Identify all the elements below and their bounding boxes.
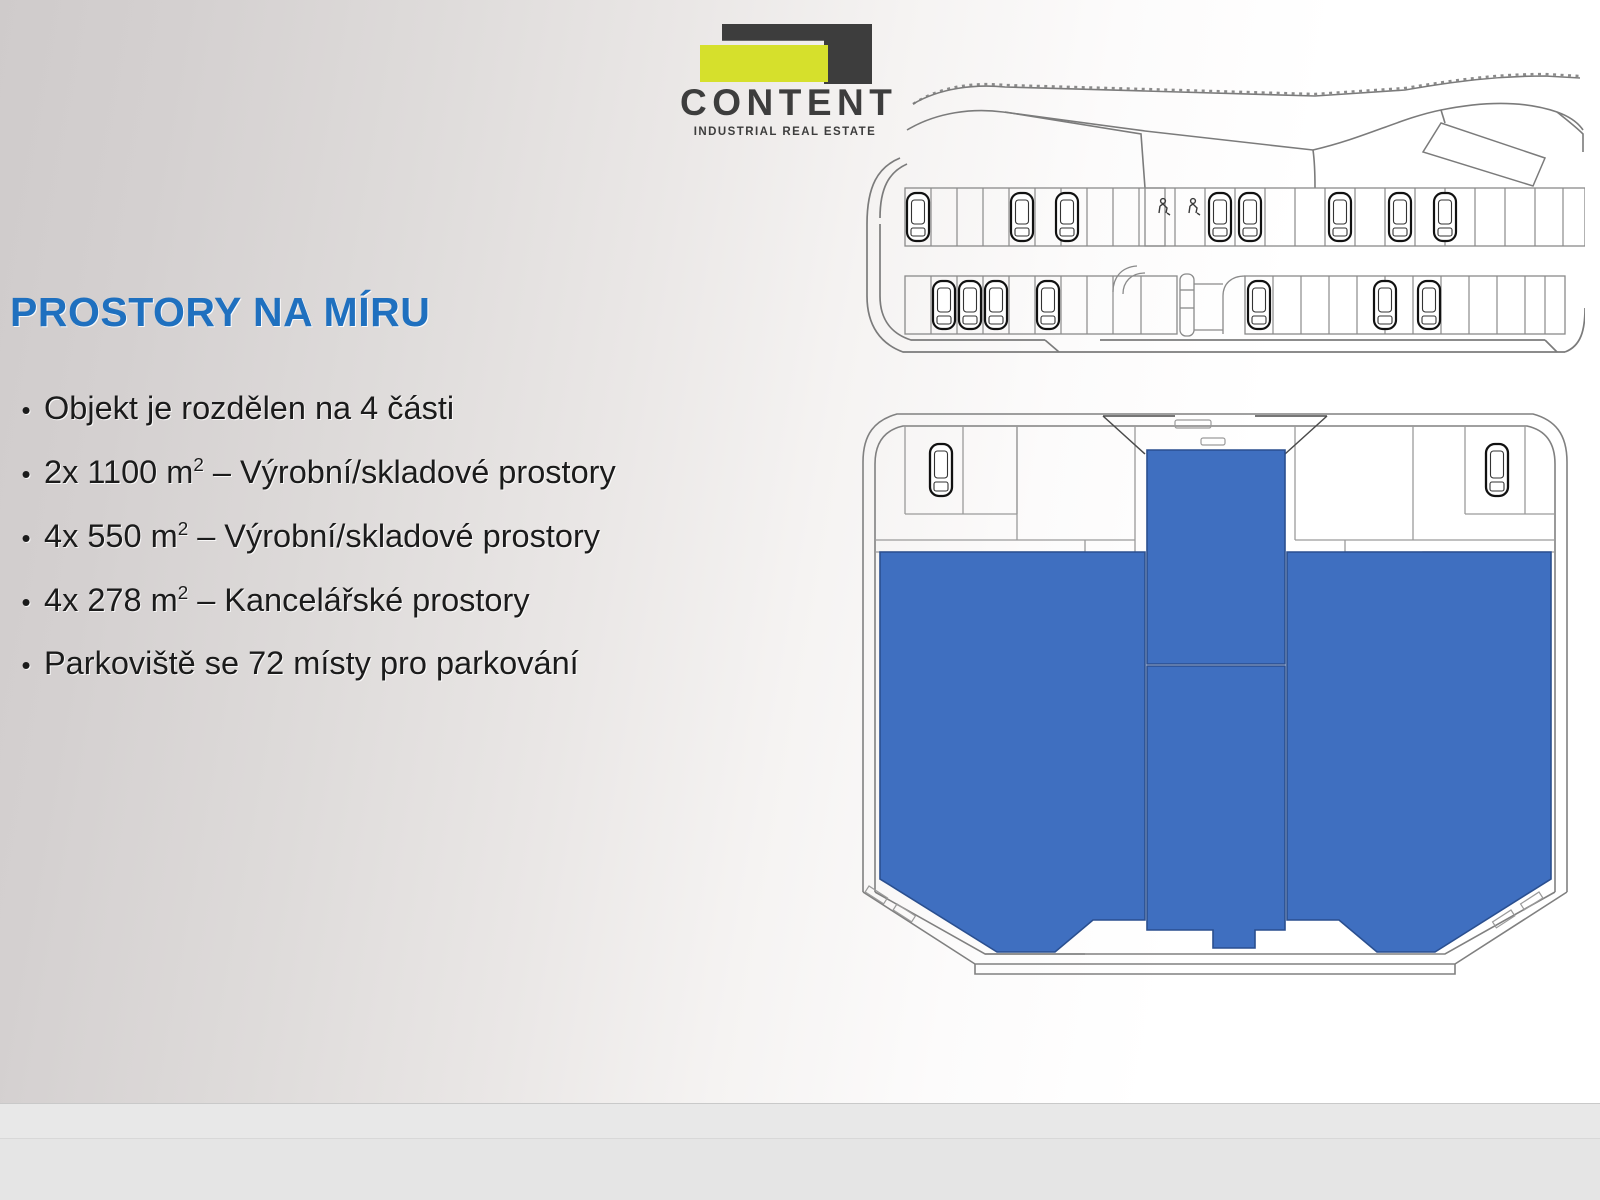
logo-accent-bar-icon — [700, 45, 828, 82]
leasable-units — [880, 450, 1551, 952]
page-title: PROSTORY NA MÍRU — [10, 289, 430, 336]
bullet-marker-icon: • — [8, 397, 44, 423]
list-item-label: Objekt je rozdělen na 4 části — [44, 392, 454, 425]
footer-divider-second — [0, 1138, 1600, 1139]
superscript: 2 — [178, 582, 188, 603]
list-item-label: 2x 1100 m2 – Výrobní/skladové prostory — [44, 455, 616, 489]
slide-canvas: CONTENT INDUSTRIAL REAL ESTATE PROSTORY … — [0, 0, 1600, 1200]
bullet-list: • Objekt je rozdělen na 4 části • 2x 110… — [8, 392, 808, 710]
parking-row-lower — [905, 266, 1565, 336]
parking-level-floorplan — [845, 68, 1585, 368]
footer-divider-top — [0, 1103, 1600, 1104]
units-floorplan-svg — [845, 392, 1585, 992]
list-item: • 2x 1100 m2 – Výrobní/skladové prostory — [8, 455, 808, 489]
bullet-marker-icon: • — [8, 652, 44, 678]
production-office-floorplan — [845, 392, 1585, 992]
footer-lower-band — [0, 1139, 1600, 1200]
list-item-label: 4x 550 m2 – Výrobní/skladové prostory — [44, 519, 600, 553]
parking-row-upper — [905, 188, 1585, 246]
bullet-marker-icon: • — [8, 525, 44, 551]
unit-west[interactable] — [880, 552, 1145, 952]
unit-east[interactable] — [1287, 552, 1551, 952]
unit-center-north[interactable] — [1147, 450, 1285, 664]
bullet-marker-icon: • — [8, 461, 44, 487]
superscript: 2 — [178, 518, 188, 539]
unit-center-south[interactable] — [1147, 666, 1285, 948]
bullet-marker-icon: • — [8, 589, 44, 615]
parking-floorplan-svg — [845, 68, 1585, 368]
parked-car-icon — [907, 193, 1456, 241]
list-item: • Objekt je rozdělen na 4 části — [8, 392, 808, 425]
entry-canopy — [1103, 416, 1327, 454]
superscript: 2 — [193, 454, 203, 475]
list-item-label: 4x 278 m2 – Kancelářské prostory — [44, 583, 530, 617]
canopy-outline — [907, 74, 1583, 188]
list-item: • 4x 550 m2 – Výrobní/skladové prostory — [8, 519, 808, 553]
list-item: • Parkoviště se 72 místy pro parkování — [8, 647, 808, 680]
list-item-label: Parkoviště se 72 místy pro parkování — [44, 647, 579, 680]
list-item: • 4x 278 m2 – Kancelářské prostory — [8, 583, 808, 617]
